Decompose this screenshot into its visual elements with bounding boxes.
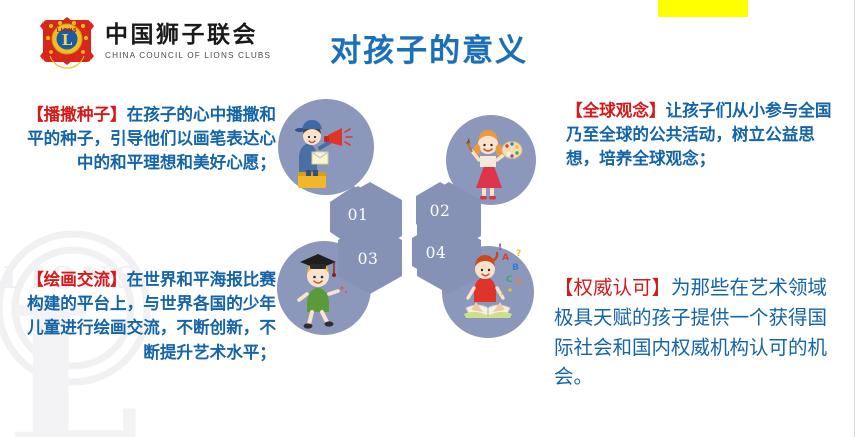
- svg-text:A: A: [502, 253, 509, 263]
- text-block-03: 【绘画交流】在世界和平海报比赛构建的平台上，与世界各国的少年儿童进行绘画交流，不…: [14, 268, 276, 365]
- svg-text:C: C: [506, 275, 513, 285]
- logo-text: 中国狮子联会 CHINA COUNCIL OF LIONS CLUBS: [105, 22, 271, 60]
- text-block-04-tag: 【权威认可】: [554, 276, 671, 299]
- slide-canvas: LIONS L: [0, 0, 855, 437]
- svg-text:!: !: [498, 243, 502, 253]
- hexagon-label-01: 01: [348, 206, 369, 224]
- lions-club-emblem-icon: LIONS L: [38, 12, 96, 70]
- svg-text:L: L: [62, 31, 73, 49]
- svg-text:?: ?: [516, 249, 521, 259]
- logo-en-name: CHINA COUNCIL OF LIONS CLUBS: [105, 51, 271, 60]
- text-block-04: 【权威认可】为那些在艺术领域极具天赋的孩子提供一个获得国际社会和国内权威机构认可…: [554, 273, 844, 392]
- text-block-02-tag: 【全球观念】: [566, 101, 666, 120]
- svg-text:B: B: [512, 263, 519, 273]
- hexagon-label-03: 03: [358, 250, 379, 268]
- logo-cn-name: 中国狮子联会: [105, 22, 271, 48]
- hexagon-label-04: 04: [426, 244, 447, 262]
- brand-logo: LIONS L 中国狮子联会 CHINA COUNCIL OF LIONS CL…: [38, 12, 271, 70]
- text-block-01-tag: 【播撒种子】: [27, 105, 127, 124]
- yellow-highlight-strip: [658, 0, 748, 17]
- svg-text:1: 1: [516, 277, 522, 287]
- center-diagram: A B C ? ! 1 01: [276, 92, 544, 347]
- page-title: 对孩子的意义: [330, 25, 528, 70]
- text-block-03-tag: 【绘画交流】: [27, 270, 127, 289]
- text-block-02: 【全球观念】让孩子们从小参与全国乃至全球的公共活动，树立公益思想，培养全球观念；: [566, 99, 846, 172]
- hexagon-label-02: 02: [430, 202, 451, 220]
- text-block-01: 【播撒种子】在孩子的心中播撒和平的种子，引导他们以画笔表达心中的和平理想和美好心…: [14, 103, 276, 176]
